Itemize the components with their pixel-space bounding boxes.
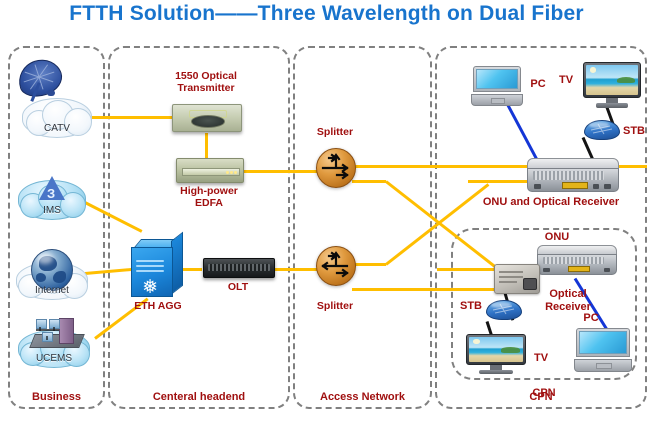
ims-label: IMS <box>18 205 86 216</box>
switch-front-face: ❅ <box>131 247 173 297</box>
page-title: FTTH Solution——Three Wavelength on Dual … <box>0 2 653 26</box>
internet-label: Internet <box>16 285 88 296</box>
zone-label-headend: Centeral headend <box>108 391 290 403</box>
laptop-screen <box>579 331 626 354</box>
laptop-icon <box>574 328 632 372</box>
tv-screen <box>586 65 638 95</box>
edfa-label: High-power EDFA <box>153 185 265 209</box>
fiber-splitter-bottom-out-a <box>352 263 386 266</box>
onu-lower-label: ONU <box>537 231 577 243</box>
splitter-icon <box>316 148 356 188</box>
catv-label: CATV <box>22 123 92 134</box>
fiber-to-onu-upper <box>468 180 528 183</box>
onu-upper-label: ONU and Optical Receiver <box>461 196 641 208</box>
onu-port-bank <box>568 266 590 272</box>
set-top-box-icon <box>486 300 522 320</box>
rack-transmitter-icon <box>172 104 242 132</box>
stb-lines <box>486 300 522 320</box>
server-rack-icon <box>26 316 84 350</box>
catv-cloud: CATV <box>22 98 92 138</box>
optical-transmitter-label: 1550 Optical Transmitter <box>150 70 262 94</box>
laptop-lid <box>473 66 521 92</box>
pc-upper-label: PC <box>525 78 551 90</box>
olt-label: OLT <box>213 281 263 293</box>
stb-lines <box>584 120 620 140</box>
transmitter-disc <box>191 115 226 128</box>
globe-landmass <box>36 273 46 282</box>
splitter-arrows <box>317 247 355 285</box>
laptop-base <box>471 94 523 106</box>
edfa-led <box>226 171 229 174</box>
fiber-splitter-top-out-b <box>352 180 386 183</box>
olt-port-bank <box>208 264 270 271</box>
laptop-trackpad <box>491 98 505 104</box>
tv-base <box>596 103 628 108</box>
edfa-led <box>230 171 233 174</box>
set-top-box-icon <box>584 120 620 140</box>
optical-receiver-label: Optical Receiver <box>528 288 608 314</box>
onu-button <box>534 184 540 189</box>
laptop-icon <box>471 66 523 106</box>
television-icon <box>583 62 641 110</box>
onu-button <box>593 184 599 189</box>
tv-island <box>617 77 635 83</box>
globe-landmass <box>53 271 67 283</box>
onu-front-face <box>537 254 617 275</box>
tv-sun <box>473 339 479 344</box>
fiber-catv-to-transmitter <box>92 116 174 119</box>
onu-port-bank <box>562 182 587 189</box>
zone-access <box>293 46 432 409</box>
orx-vent-line <box>499 276 523 278</box>
splitter-top-label: Splitter <box>300 126 370 138</box>
onu-vent-grille <box>533 171 603 180</box>
splitter-icon <box>316 246 356 286</box>
zone-label-business: Business <box>8 391 105 403</box>
dish-feedhorn <box>47 90 55 96</box>
switch-snowflake-icon: ❅ <box>142 278 158 297</box>
tv-bezel <box>466 334 526 365</box>
ims-cloud: З IMS <box>18 180 86 220</box>
switch-line <box>136 265 164 267</box>
switch-icon: ❅ <box>131 239 183 297</box>
pc-lower-label: PC <box>578 312 604 324</box>
tv-base <box>479 370 513 374</box>
tv-bezel <box>583 62 641 98</box>
fiber-to-optical-receiver <box>437 268 497 271</box>
onu-router-icon <box>537 245 617 275</box>
stb-upper-label: STB <box>620 125 648 137</box>
switch-line <box>136 260 164 262</box>
onu-router-icon <box>527 158 619 192</box>
laptop-lid <box>576 328 629 357</box>
olt-chassis-icon <box>203 258 275 278</box>
orx-vent-line <box>499 271 523 273</box>
ftth-diagram: FTTH Solution——Three Wavelength on Dual … <box>0 0 653 422</box>
eth-agg-label: ETH AGG <box>113 300 203 312</box>
stb-lower-label: STB <box>457 300 485 312</box>
switch-line <box>136 270 164 272</box>
rack-edfa-icon <box>176 158 244 183</box>
ims-glyph: З <box>47 186 55 201</box>
onu-button <box>604 268 610 272</box>
onu-vent-grille <box>543 257 604 265</box>
cpn-household-label: CPN <box>451 387 637 399</box>
television-icon <box>466 334 526 376</box>
splitter-arrows <box>317 149 355 187</box>
edfa-led <box>234 171 237 174</box>
rack-links <box>26 316 84 350</box>
zone-label-access: Access Network <box>293 391 432 403</box>
tv-sun <box>590 67 596 72</box>
tv-lower-label: TV <box>528 352 554 364</box>
tv-island <box>501 347 519 353</box>
splitter-bottom-label: Splitter <box>300 300 370 312</box>
laptop-screen <box>476 69 518 89</box>
switch-port-lines <box>136 260 166 276</box>
orx-vent-line <box>499 281 517 283</box>
onu-button <box>543 268 549 272</box>
laptop-trackpad <box>596 363 611 369</box>
laptop-base <box>574 359 632 372</box>
ucems-label: UCEMS <box>18 353 90 364</box>
onu-front-face <box>527 168 619 192</box>
onu-button <box>604 184 611 189</box>
tv-screen <box>469 337 523 362</box>
tv-upper-label: TV <box>553 74 579 86</box>
satellite-dish-icon <box>18 60 64 102</box>
